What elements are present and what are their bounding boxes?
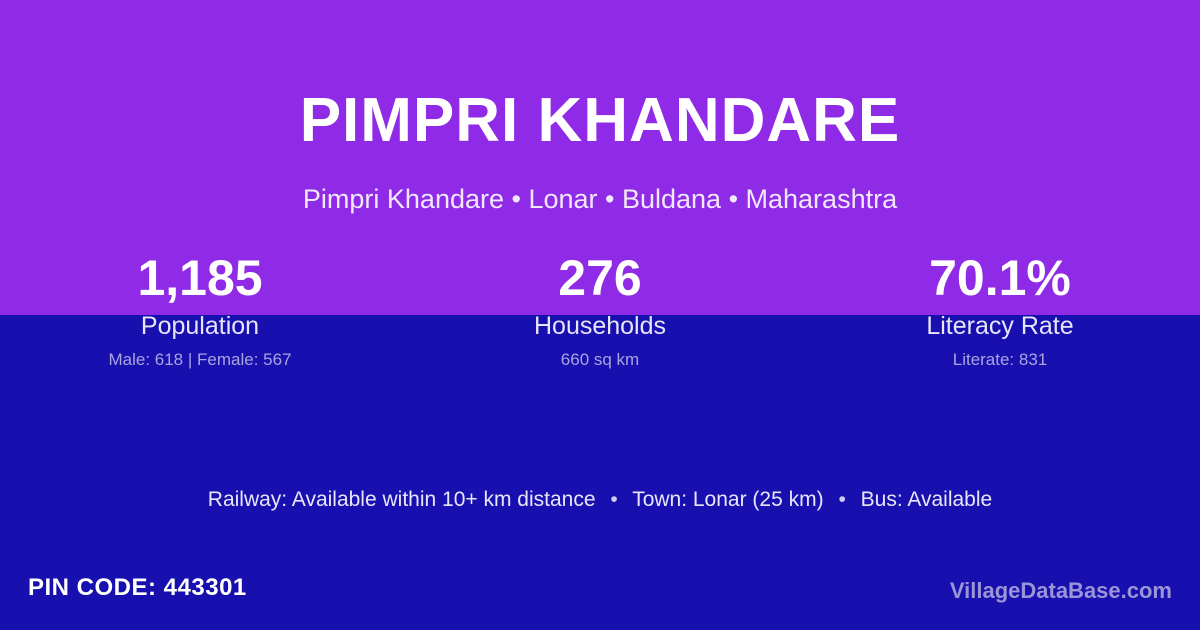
stat-population: 1,185 Population Male: 618 | Female: 567	[0, 248, 400, 372]
stats-row: 1,185 Population Male: 618 | Female: 567…	[0, 248, 1200, 372]
stat-sublabel: Male: 618 | Female: 567	[0, 348, 400, 372]
facilities-row: Railway: Available within 10+ km distanc…	[0, 485, 1200, 515]
facility-railway: Railway: Available within 10+ km distanc…	[208, 488, 596, 511]
stat-sublabel: 660 sq km	[400, 348, 800, 372]
stat-label: Literacy Rate	[800, 310, 1200, 342]
facility-separator: •	[829, 488, 854, 511]
stat-label: Households	[400, 310, 800, 342]
facility-bus: Bus: Available	[861, 488, 993, 511]
breadcrumb: Pimpri Khandare • Lonar • Buldana • Maha…	[0, 182, 1200, 216]
stat-literacy-rate: 70.1% Literacy Rate Literate: 831	[800, 248, 1200, 372]
stat-label: Population	[0, 310, 400, 342]
stat-value: 276	[400, 248, 800, 308]
stat-sublabel: Literate: 831	[800, 348, 1200, 372]
pin-code: PIN CODE: 443301	[28, 573, 247, 603]
facility-separator: •	[601, 488, 626, 511]
village-info-card: PIMPRI KHANDARE Pimpri Khandare • Lonar …	[0, 0, 1200, 630]
page-title: PIMPRI KHANDARE	[0, 85, 1200, 157]
stat-value: 70.1%	[800, 248, 1200, 308]
stat-households: 276 Households 660 sq km	[400, 248, 800, 372]
facility-town: Town: Lonar (25 km)	[632, 488, 823, 511]
stat-value: 1,185	[0, 248, 400, 308]
brand-watermark: VillageDataBase.com	[950, 576, 1172, 606]
